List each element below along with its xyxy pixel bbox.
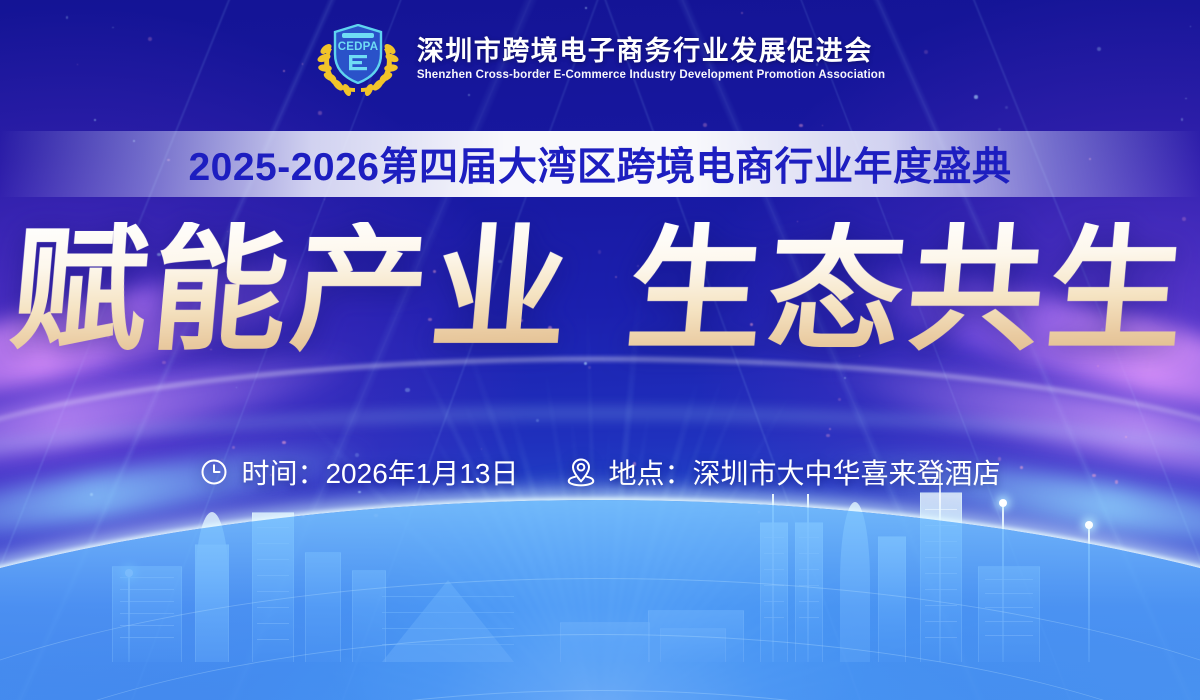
slogan-part-2: 生态共生 (622, 222, 1194, 358)
shield-icon: CEDPA (333, 24, 383, 84)
event-time: 时间：2026年1月13日 (199, 452, 518, 492)
light-streaks-decoration (0, 0, 1200, 700)
svg-text:CEDPA: CEDPA (338, 41, 378, 53)
location-pin-icon (565, 456, 597, 488)
particle-sparkles-decoration (0, 0, 1200, 700)
event-venue: 地点：深圳市大中华喜来登酒店 (565, 452, 1001, 492)
association-header: CEDPA 深圳市跨境电子商务行业发展促进会 Shenzhen Cross-bo… (0, 22, 1200, 96)
event-slogan: 赋能产业 生态共生 (0, 222, 1200, 358)
association-name-cn: 深圳市跨境电子商务行业发展促进会 (417, 37, 885, 65)
center-glow-core (320, 470, 880, 700)
event-info-row: 时间：2026年1月13日 地点：深圳市大中华喜来登酒店 (0, 452, 1200, 492)
event-title: 2025-2026第四届大湾区跨境电商行业年度盛典 (0, 131, 1200, 197)
slogan-part-1: 赋能产业 (6, 222, 578, 358)
horizon-outer-glow (0, 410, 1200, 670)
clock-icon (199, 457, 229, 487)
horizon-bright-edge (0, 358, 1200, 658)
event-venue-text: 地点：深圳市大中华喜来登酒店 (609, 452, 1001, 492)
cedpa-shield-crest-icon: CEDPA (315, 22, 401, 96)
event-time-text: 时间：2026年1月13日 (241, 452, 518, 492)
association-name-en: Shenzhen Cross-border E-Commerce Industr… (417, 69, 885, 81)
globe-horizon-arc (0, 500, 1200, 700)
event-banner: CEDPA 深圳市跨境电子商务行业发展促进会 Shenzhen Cross-bo… (0, 0, 1200, 700)
